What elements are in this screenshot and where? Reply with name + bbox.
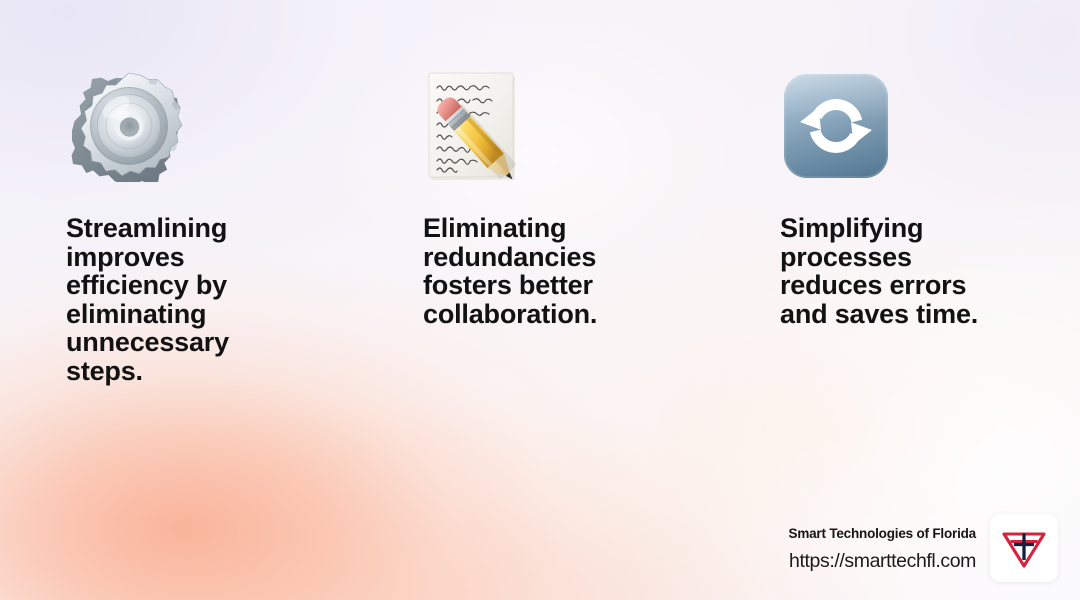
smart-technologies-of-florida-logo [990,514,1058,582]
slide-canvas: Streamlining improves efficiency by elim… [0,0,1080,600]
feature-text-3: Simplifying processes reduces errors and… [780,214,1005,328]
brand-url[interactable]: https://smarttechfl.com [789,550,976,572]
counterclockwise-arrows-icon [782,72,890,180]
memo-icon [425,69,525,187]
feature-columns: Streamlining improves efficiency by elim… [0,0,1080,600]
footer-branding: Smart Technologies of Florida https://sm… [789,514,1058,582]
gear-icon [68,70,190,182]
brand-name: Smart Technologies of Florida [789,525,976,543]
feature-text-2: Eliminating redundancies fosters better … [423,214,638,328]
footer-text-block: Smart Technologies of Florida https://sm… [789,525,976,572]
feature-text-1: Streamlining improves efficiency by elim… [66,214,266,385]
